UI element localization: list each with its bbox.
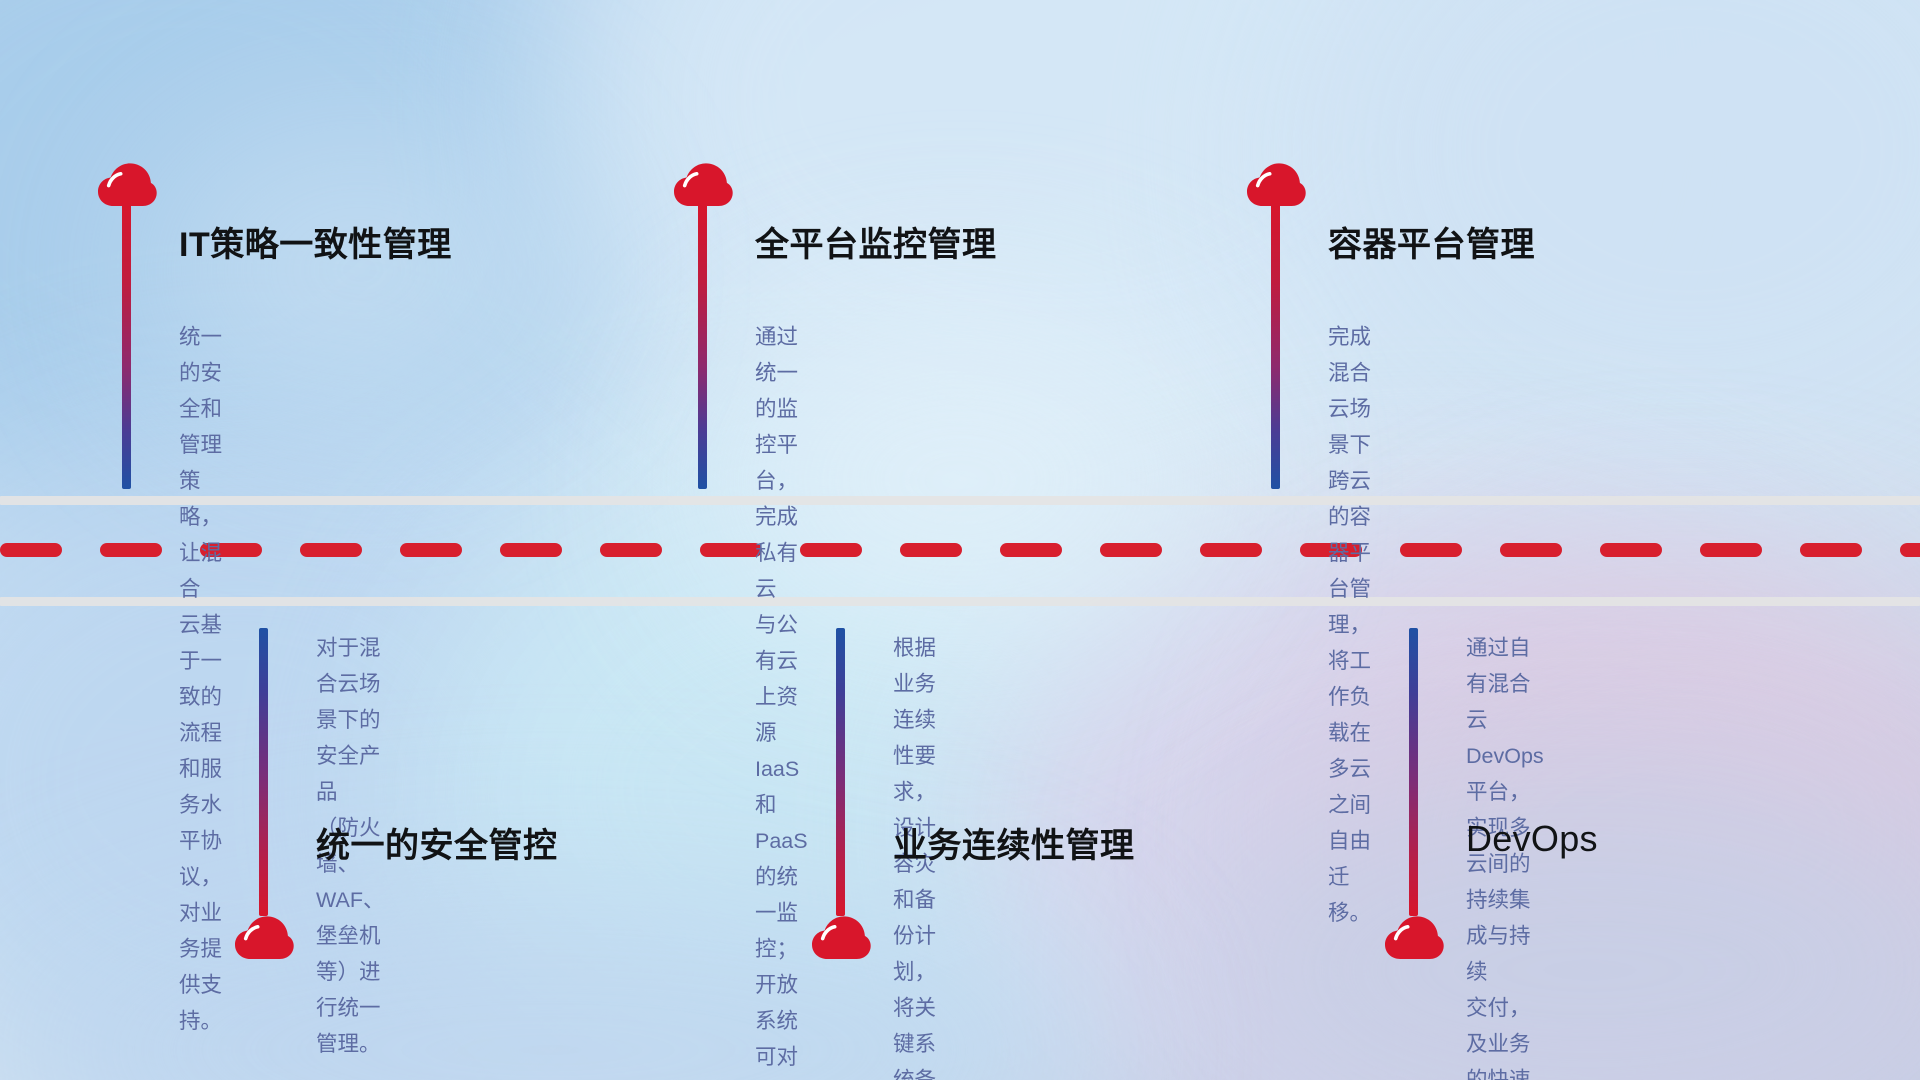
card-heading: DevOps — [1466, 818, 1598, 860]
pin-line — [698, 201, 707, 489]
cloud-icon — [810, 914, 872, 960]
cloud-icon — [233, 914, 295, 960]
pin-line — [1409, 628, 1418, 916]
card-body: 统一的安全和管理策略，让混合 云基于一致的流程和服务水平协 议，对业务提供支持。 — [179, 319, 222, 1039]
divider-rule-lower — [0, 597, 1920, 606]
dash-segment — [1700, 543, 1762, 557]
dash-segment — [0, 543, 62, 557]
card-heading: 容器平台管理 — [1328, 217, 1535, 266]
dash-segment — [500, 543, 562, 557]
card-heading: 全平台监控管理 — [755, 217, 997, 266]
card-heading: IT策略一致性管理 — [179, 217, 452, 266]
card-heading: 业务连续性管理 — [893, 818, 1135, 867]
pin-line — [1271, 201, 1280, 489]
card-body: 完成混合云场景下跨云的容器平 台管理，将工作负载在多云之间 自由迁移。 — [1328, 319, 1371, 931]
dash-segment — [1900, 543, 1920, 557]
dash-segment — [100, 543, 162, 557]
dash-segment — [1800, 543, 1862, 557]
dash-segment — [400, 543, 462, 557]
card-body: 通过统一的监控平台，完成私有云 与公有云上资源IaaS和PaaS的统 一监控；开… — [755, 319, 808, 1080]
divider-dashed-line — [0, 543, 1920, 557]
dash-segment — [1400, 543, 1462, 557]
pin-line — [259, 628, 268, 916]
dash-segment — [1600, 543, 1662, 557]
dash-segment — [300, 543, 362, 557]
dash-segment — [1500, 543, 1562, 557]
dash-segment — [1000, 543, 1062, 557]
cloud-icon — [1383, 914, 1445, 960]
card-heading: 统一的安全管控 — [316, 818, 558, 867]
dash-segment — [800, 543, 862, 557]
pin-line — [122, 201, 131, 489]
dash-segment — [1100, 543, 1162, 557]
dash-segment — [900, 543, 962, 557]
infographic-canvas: IT策略一致性管理 统一的安全和管理策略，让混合 云基于一致的流程和服务水平协 … — [0, 0, 1920, 1080]
divider-rule-upper — [0, 496, 1920, 505]
dash-segment — [700, 543, 762, 557]
dash-segment — [1200, 543, 1262, 557]
dash-segment — [600, 543, 662, 557]
pin-line — [836, 628, 845, 916]
